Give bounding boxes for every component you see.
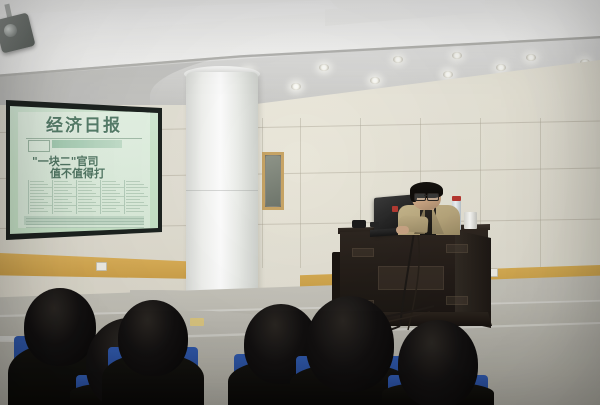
newspaper-text-line	[30, 199, 44, 200]
newspaper-text-line	[102, 193, 120, 194]
newspaper-column-rule	[28, 180, 29, 214]
newspaper-text-line	[78, 193, 96, 194]
newspaper-text-line	[126, 208, 140, 209]
newspaper-text-line	[102, 196, 124, 197]
national-emblem: ★ ★ ★ ★ ★	[452, 92, 520, 166]
audience-head-6	[398, 320, 478, 405]
newspaper-text-line	[30, 193, 48, 194]
newspaper-text-line	[126, 184, 144, 185]
newspaper-text-line	[78, 190, 92, 191]
newspaper-text-line	[102, 208, 116, 209]
wall-window-glass	[266, 156, 280, 206]
newspaper-text-line	[126, 202, 144, 203]
newspaper-text-line	[102, 190, 116, 191]
floor-marker-tape	[190, 318, 204, 326]
projected-slide: 经济日报 "一块二"官司 值不值得打	[10, 106, 158, 234]
newspaper-text-line	[102, 202, 120, 203]
newspaper-text-line	[54, 208, 68, 209]
newspaper-text-line	[30, 184, 48, 185]
newspaper-text-line	[102, 181, 116, 182]
paper-cup	[464, 212, 477, 229]
masthead-index-box	[28, 140, 50, 152]
desk-device-1	[352, 220, 366, 228]
auditorium-photo: ★ ★ ★ ★ ★ 经济日报 "一块二"官司 值不值得打	[0, 0, 600, 405]
newspaper-text-line	[126, 211, 144, 212]
newspaper-text-line	[54, 187, 76, 188]
newspaper-headline-line2: 值不值得打	[50, 165, 146, 178]
ceiling-downlight-9	[526, 54, 536, 61]
ceiling-downlight-7	[452, 52, 462, 59]
ceiling-downlight-4	[370, 77, 380, 84]
newspaper-text-line	[126, 190, 140, 191]
column-seam-upper	[186, 190, 258, 191]
ceiling-downlight-8	[496, 64, 506, 71]
newspaper-text-line	[78, 184, 96, 185]
newspaper-text-line	[78, 211, 96, 212]
newspaper-text-line	[102, 199, 116, 200]
newspaper-text-line	[30, 202, 48, 203]
newspaper-text-line	[54, 211, 72, 212]
ceiling-downlight-5	[393, 56, 403, 63]
newspaper-column-rule	[52, 180, 53, 214]
newspaper-text-line	[30, 211, 48, 212]
newspaper-text-line	[126, 199, 140, 200]
newspaper-text-line	[54, 181, 68, 182]
ceiling-downlight-6	[443, 71, 453, 78]
newspaper-text-line	[30, 190, 44, 191]
newspaper-text-line	[30, 205, 52, 206]
newspaper-masthead: 经济日报	[32, 115, 136, 137]
newspaper-text-line	[102, 187, 124, 188]
newspaper-text-line	[78, 199, 92, 200]
newspaper-text-line	[126, 205, 148, 206]
newspaper-text-line	[126, 181, 140, 182]
newspaper-text-line	[126, 196, 148, 197]
newspaper-text-line	[78, 181, 92, 182]
newspaper-text-line	[54, 184, 72, 185]
newspaper-text-line	[54, 193, 72, 194]
newspaper-text-line	[78, 202, 96, 203]
newspaper-text-line	[54, 199, 68, 200]
masthead-subtitle-banner	[52, 140, 122, 148]
desk-device-2	[370, 222, 379, 227]
audience-head-1	[24, 288, 96, 366]
newspaper-text-line	[54, 202, 72, 203]
newspaper-text-line	[30, 208, 44, 209]
newspaper-text-line	[126, 187, 148, 188]
wall-seam-v-5	[540, 118, 541, 268]
newspaper-text-line	[102, 205, 124, 206]
audience-head-3	[118, 300, 188, 376]
newspaper-text-line	[78, 205, 100, 206]
newspaper-text-line	[30, 196, 52, 197]
ceiling-downlight-3	[319, 64, 329, 71]
newspaper-text-line	[54, 205, 76, 206]
presenter-glasses-bridge	[424, 195, 427, 196]
newspaper-text-line	[30, 181, 44, 182]
wall-seam-v-1	[300, 118, 301, 268]
newspaper-column-rule	[100, 180, 101, 214]
newspaper-text-line	[126, 193, 144, 194]
newspaper-page: 经济日报 "一块二"官司 值不值得打	[18, 112, 150, 228]
newspaper-text-line	[102, 184, 120, 185]
wall-outlet-1	[96, 262, 107, 271]
masthead-rule	[26, 138, 142, 139]
newspaper-column-rule	[76, 180, 77, 214]
newspaper-text-line	[78, 208, 92, 209]
newspaper-text-line	[78, 196, 100, 197]
ceiling-downlight-2	[291, 83, 301, 90]
audience-head-5	[306, 296, 394, 392]
newspaper-text-line	[54, 190, 68, 191]
newspaper-text-line	[54, 196, 76, 197]
presenter-hand	[396, 226, 409, 234]
round-column	[186, 72, 258, 312]
newspaper-text-line	[78, 187, 100, 188]
newspaper-text-line	[102, 211, 120, 212]
newspaper-footer-line	[26, 227, 144, 228]
newspaper-footer-strip	[24, 216, 144, 225]
newspaper-column-rule	[124, 180, 125, 214]
presenter-glasses-right-lens-icon	[427, 193, 439, 201]
newspaper-text-line	[30, 187, 52, 188]
